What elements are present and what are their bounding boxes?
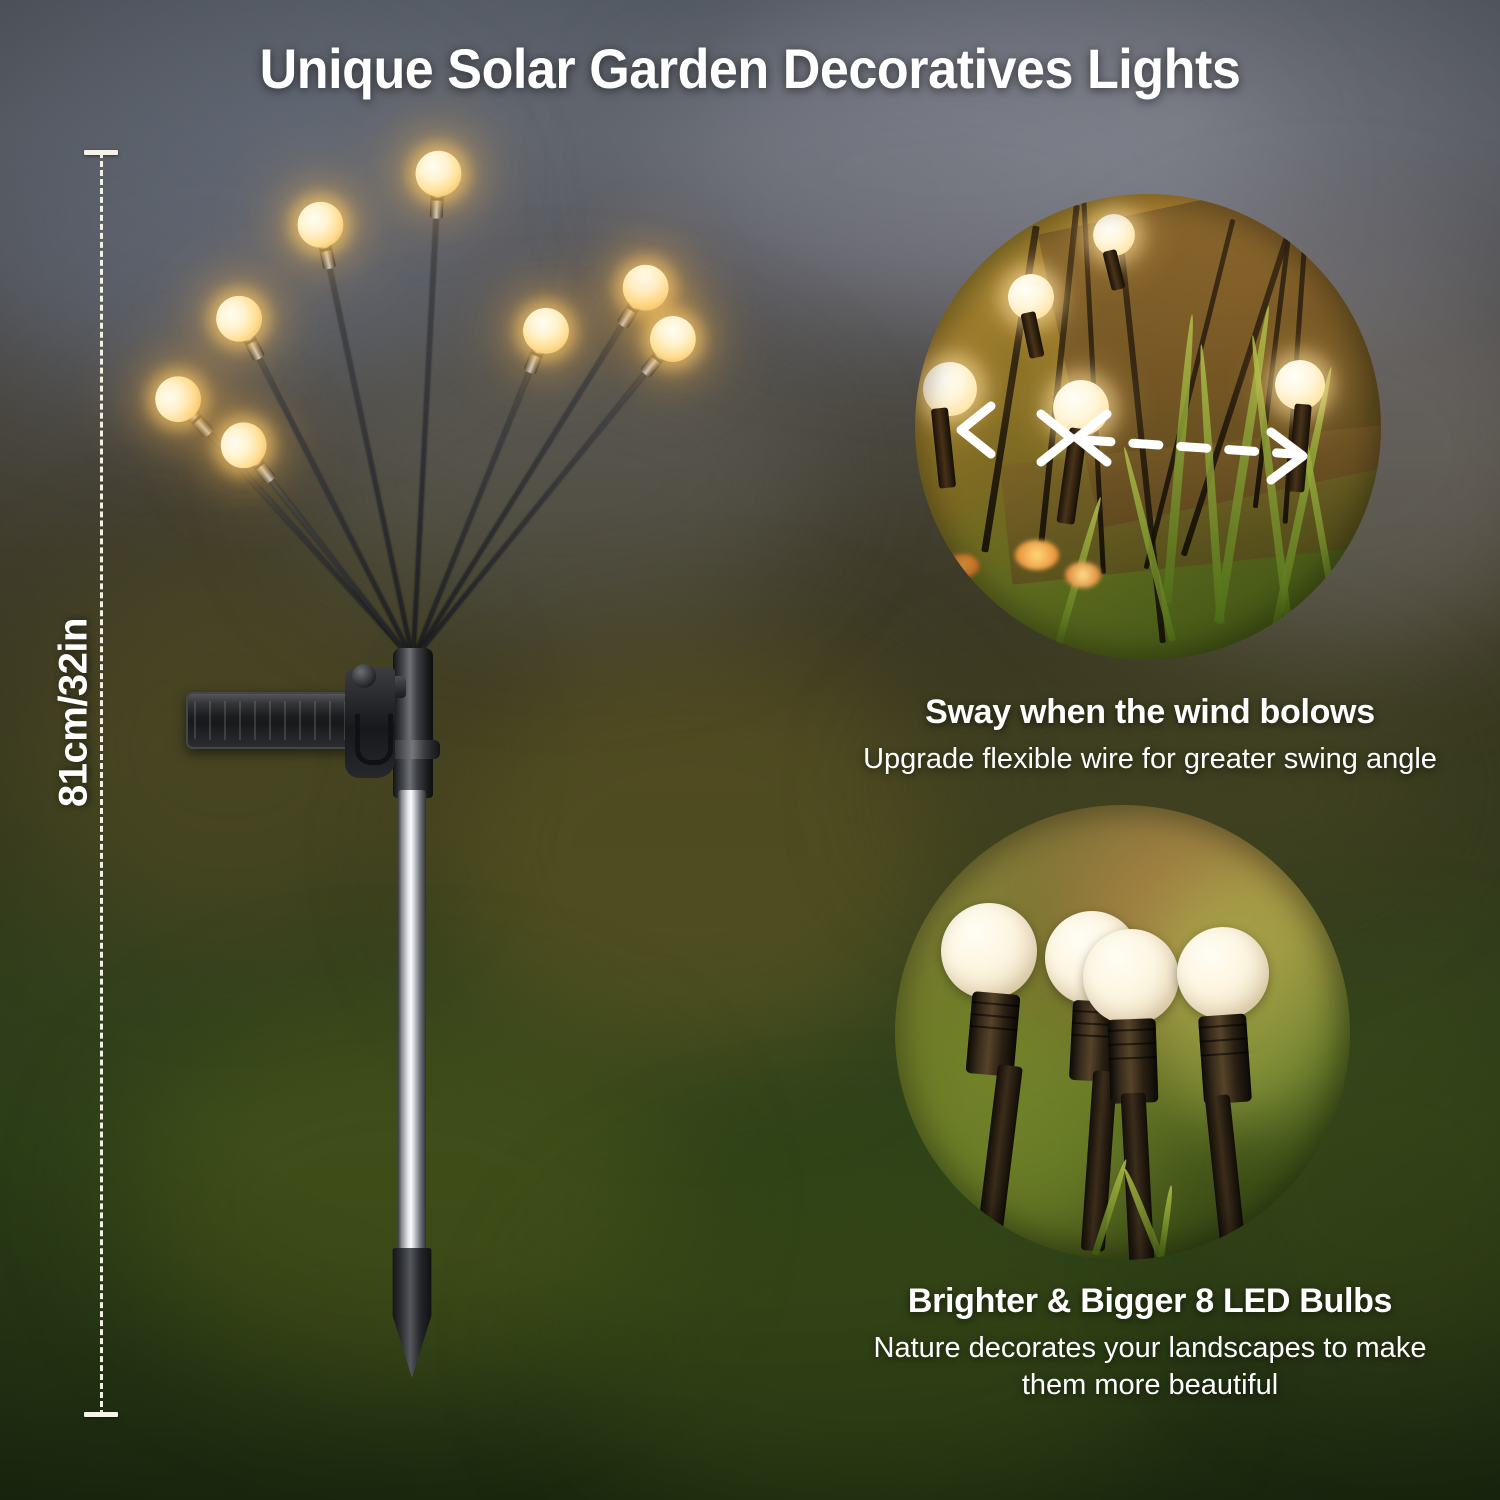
solar-panel-pivot-knob: [352, 664, 376, 688]
sway-long-dashed-arrow-icon: [1071, 410, 1321, 488]
macro-stem: [976, 1064, 1023, 1246]
macro-bulb: [1177, 927, 1269, 1019]
macro-stem: [1205, 1094, 1247, 1256]
macro-socket: [1108, 1018, 1159, 1104]
macro-stem: [1121, 1092, 1155, 1260]
scene-bulb: [1275, 360, 1325, 410]
sway-short-arrow-icon: [953, 400, 1083, 460]
scene-bulb: [923, 362, 977, 416]
macro-bulb: [1083, 929, 1179, 1025]
feature-title-bulbs: Brighter & Bigger 8 LED Bulbs: [805, 1282, 1495, 1321]
macro-bulb: [941, 903, 1037, 999]
macro-socket: [1198, 1013, 1252, 1104]
led-stem: [413, 332, 679, 660]
product-infographic: Unique Solar Garden Decoratives Lights 8…: [0, 0, 1500, 1500]
stake-pole: [398, 790, 426, 1255]
feature-caption-bulbs: Brighter & Bigger 8 LED Bulbs Nature dec…: [805, 1282, 1495, 1403]
wire-hub: [393, 648, 433, 798]
led-stem: [318, 214, 413, 660]
feature-subtitle-bulbs-line2: them more beautiful: [805, 1367, 1495, 1404]
macro-bulb: [1045, 911, 1139, 1005]
feature-title-sway: Sway when the wind bolows: [805, 693, 1495, 732]
macro-socket: [1069, 1000, 1119, 1082]
scene-bulb: [1053, 380, 1109, 436]
macro-socket: [966, 991, 1021, 1077]
led-stem: [235, 311, 413, 660]
feature-subtitle-sway: Upgrade flexible wire for greater swing …: [805, 741, 1495, 778]
scene-bulb: [1093, 214, 1135, 256]
product-illustration: [0, 0, 760, 1460]
led-stem: [413, 323, 549, 660]
scene-bulb: [1008, 274, 1054, 320]
solar-panel-gloss: [188, 694, 363, 716]
feature-caption-sway: Sway when the wind bolows Upgrade flexib…: [805, 693, 1495, 778]
ground-spike: [390, 1248, 434, 1378]
led-stem: [413, 163, 439, 660]
feature-subtitle-bulbs-line1: Nature decorates your landscapes to make: [805, 1330, 1495, 1367]
feature-photo-sway: [915, 194, 1381, 660]
solar-panel: [186, 692, 365, 749]
feature-photo-bulbs: [895, 805, 1350, 1260]
macro-stem: [1081, 1070, 1117, 1251]
